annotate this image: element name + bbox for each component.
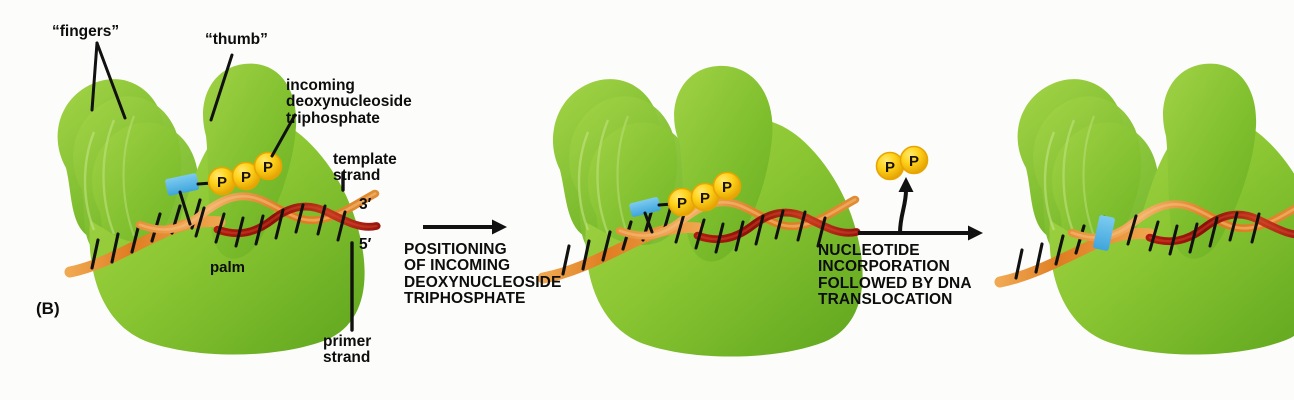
diagram-svg: P P P — [0, 0, 1294, 400]
phosphate-letter: P — [722, 179, 732, 196]
label-template-strand: template strand — [333, 152, 397, 185]
step-2-caption: NUCLEOTIDE INCORPORATION FOLLOWED BY DNA… — [818, 243, 972, 309]
phosphate-letter: P — [263, 159, 273, 176]
phosphate-letter: P — [241, 169, 251, 186]
label-incoming-dntp: incoming deoxynucleoside triphosphate — [286, 78, 412, 127]
figure-canvas: P P P — [0, 0, 1294, 400]
label-primer-strand: primer strand — [323, 334, 371, 367]
label-thumb: “thumb” — [205, 32, 268, 48]
label-3-prime: 3′ — [359, 197, 371, 213]
step-1-arrow — [423, 220, 507, 235]
panel-translocated-enzyme — [1000, 64, 1294, 355]
label-5-prime: 5′ — [359, 237, 371, 253]
phosphate-letter: P — [909, 153, 919, 170]
released-pyrophosphate: P P — [877, 147, 928, 180]
panel-closed-enzyme: P P P — [543, 66, 863, 357]
panel-label: (B) — [36, 300, 60, 318]
phosphate-letter: P — [885, 159, 895, 176]
phosphate-letter: P — [677, 195, 687, 212]
step-1-caption: POSITIONING OF INCOMING DEOXYNUCLEOSIDE … — [404, 242, 561, 308]
label-fingers: “fingers” — [52, 24, 119, 40]
phosphate-letter: P — [700, 190, 710, 207]
label-palm: palm — [210, 260, 245, 276]
phosphate-letter: P — [217, 174, 227, 191]
step-2-arrow — [858, 177, 983, 241]
